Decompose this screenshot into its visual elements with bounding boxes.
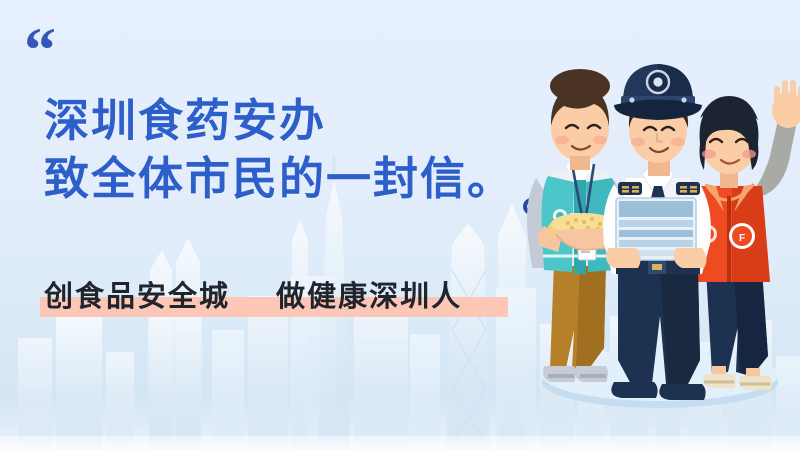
subtitle-part-1: 创食品安全城 [44, 281, 230, 313]
subtitle-part-2: 做健康深圳人 [276, 281, 462, 313]
svg-text:F: F [739, 233, 745, 244]
headline-line-2: 致全体市民的一封信。 [44, 150, 564, 208]
headline-line-1: 深圳食药安办 [44, 92, 564, 150]
subtitle-block: 创食品安全城 做健康深圳人 [44, 278, 462, 316]
waving-hand [772, 80, 800, 128]
poster-canvas: “ 深圳食药安办 致全体市民的一封信。 创食品安全城 做健康深圳人 [0, 0, 800, 450]
quotation-mark-icon: “ [24, 18, 54, 82]
subtitle-text: 创食品安全城 做健康深圳人 [44, 278, 462, 316]
three-inspectors-illustration: F [510, 30, 800, 450]
police-cap [614, 64, 702, 120]
page-title: 深圳食药安办 致全体市民的一封信。 [44, 92, 564, 208]
